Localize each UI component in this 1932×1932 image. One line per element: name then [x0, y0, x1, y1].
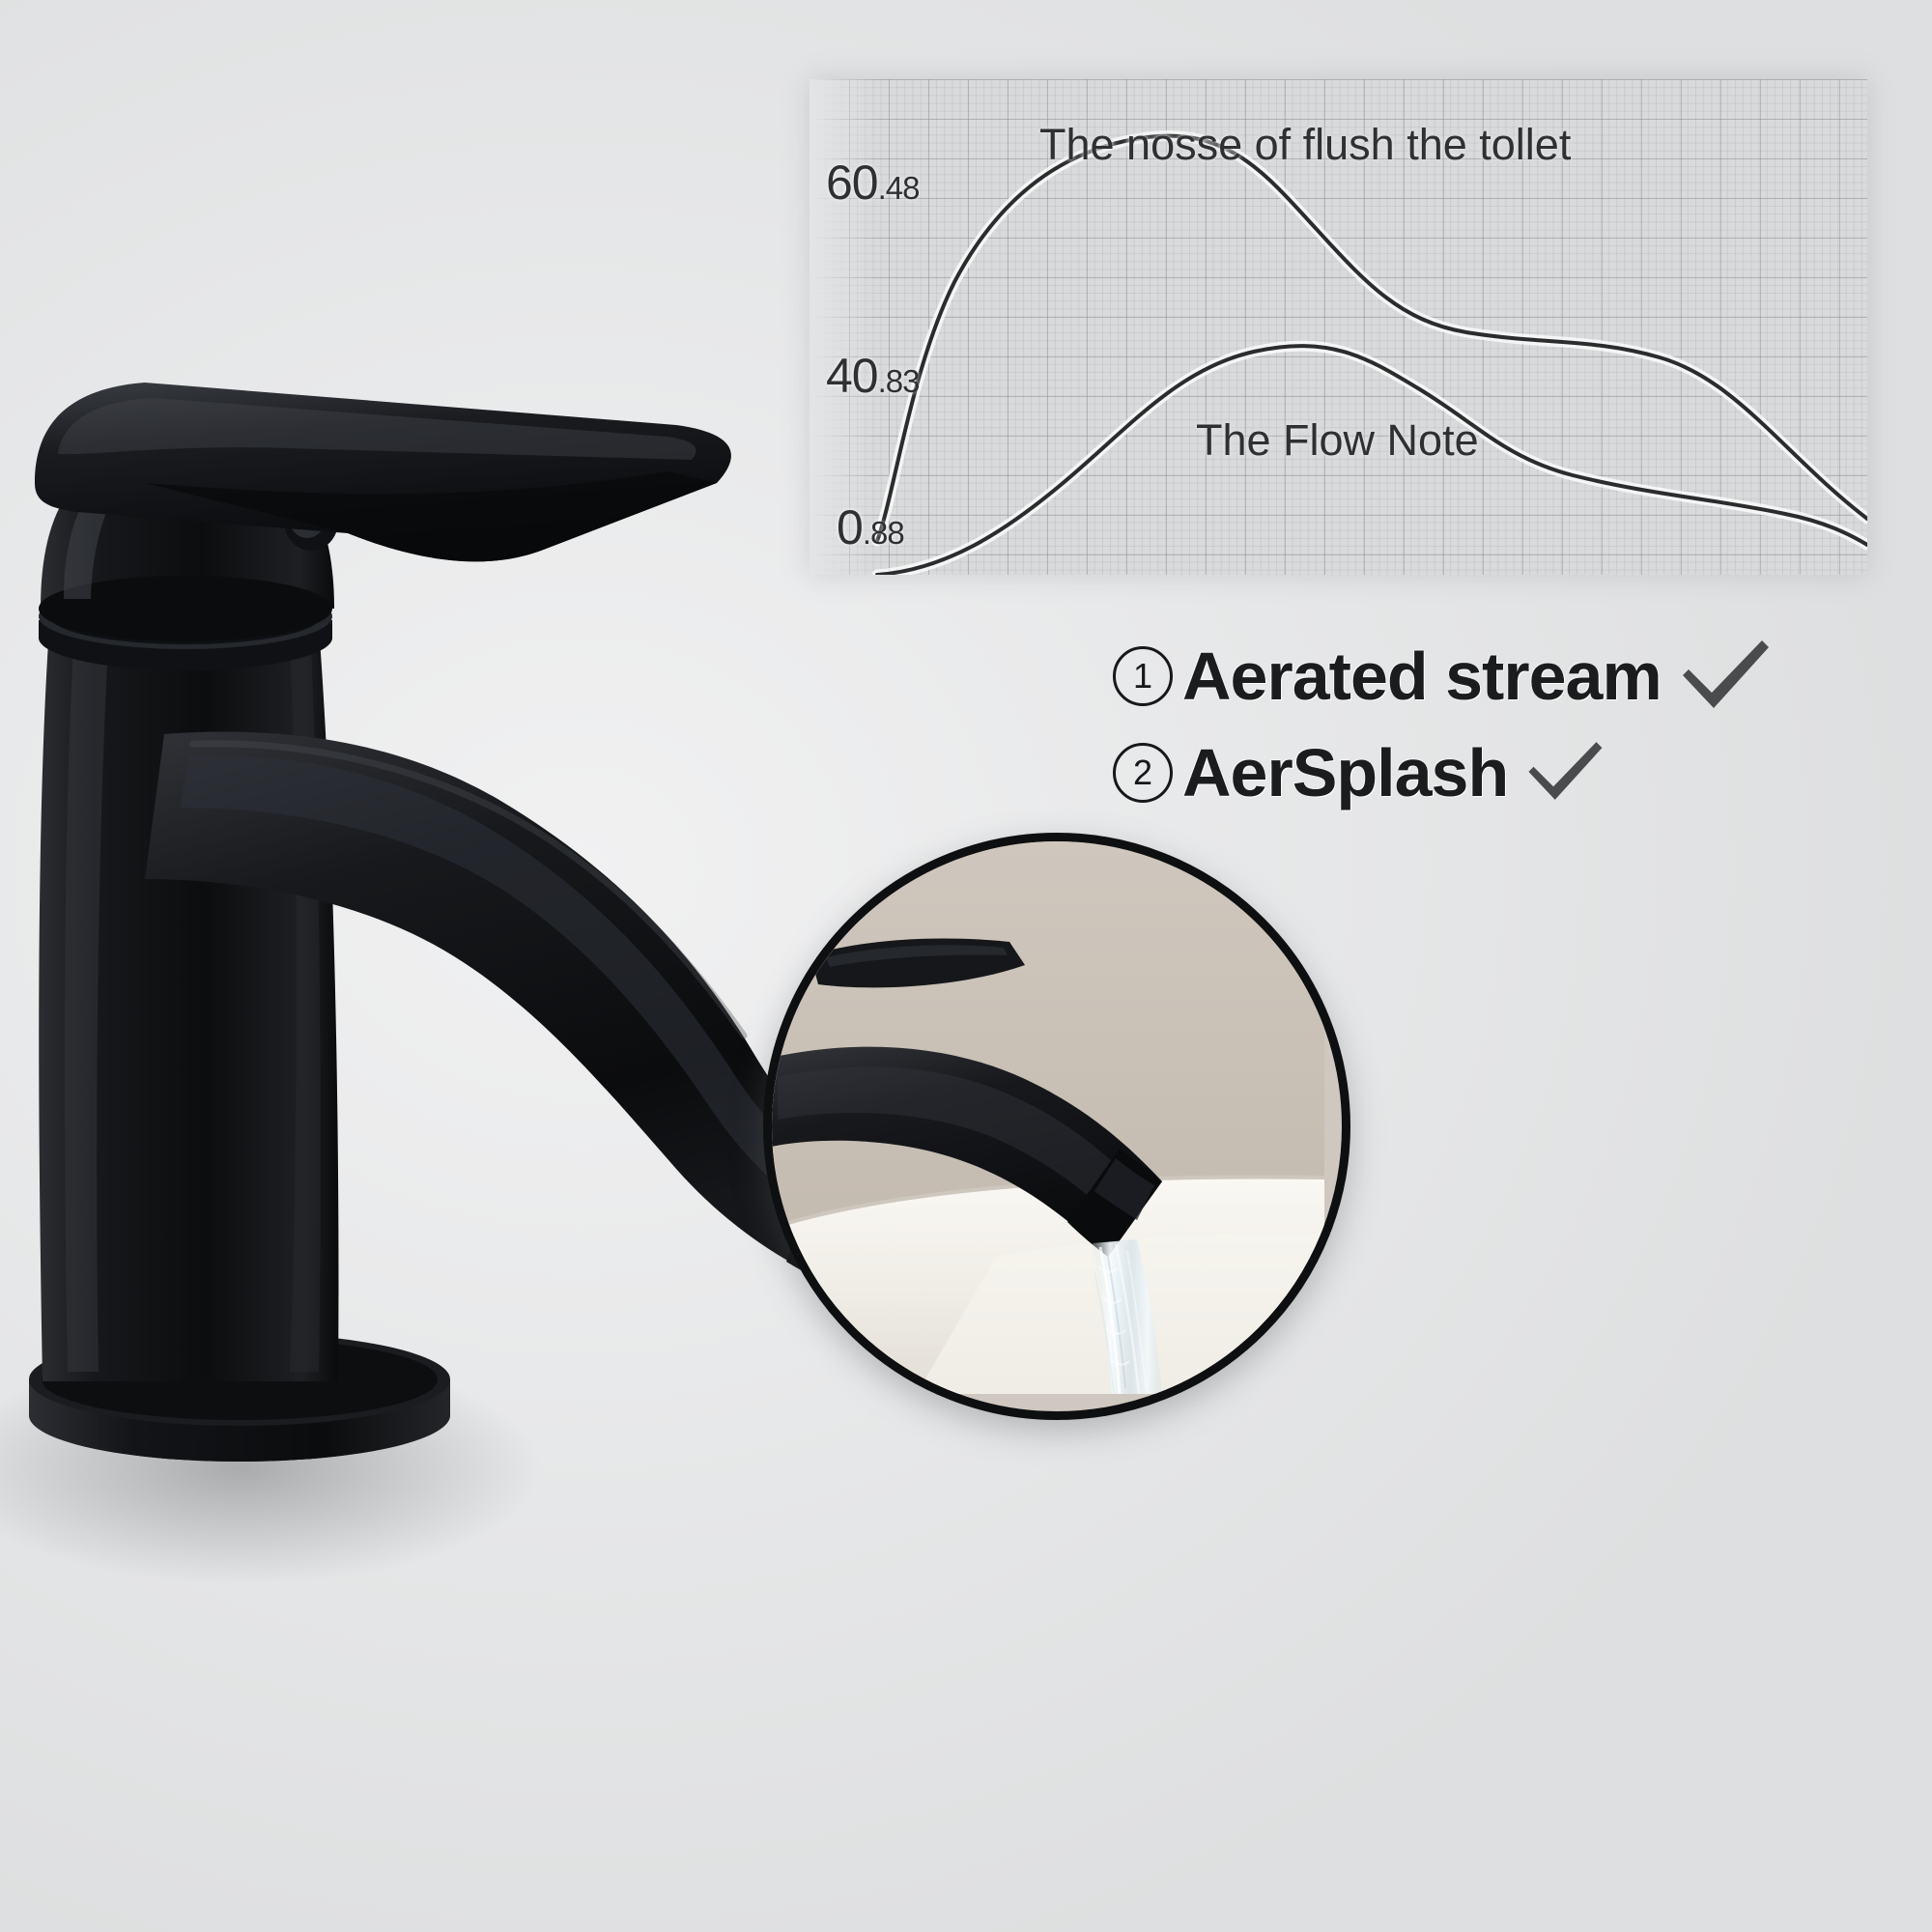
feature-item-2: 2 AerSplash [1113, 734, 1772, 811]
check-mark-icon [1679, 639, 1772, 715]
product-image-canvas: 60.48 40.83 0.88 The nosse of flush the … [0, 0, 1932, 1932]
chart-annotation-bottom: The Flow Note [1196, 415, 1479, 466]
closeup-inset-circle [763, 833, 1350, 1420]
feature-number-badge-2: 2 [1113, 743, 1173, 803]
feature-number-badge-1: 1 [1113, 646, 1173, 706]
chart-annotation-top: The nosse of flush the tollet [1039, 120, 1571, 170]
feature-label-2: AerSplash [1182, 734, 1508, 811]
check-mark-icon [1525, 740, 1605, 807]
y-axis-label-60: 60.48 [826, 155, 920, 211]
feature-item-1: 1 Aerated stream [1113, 638, 1772, 715]
feature-list: 1 Aerated stream 2 AerSplash [1113, 638, 1772, 831]
feature-label-1: Aerated stream [1182, 638, 1662, 715]
flow-chart-panel: 60.48 40.83 0.88 The nosse of flush the … [810, 79, 1867, 575]
